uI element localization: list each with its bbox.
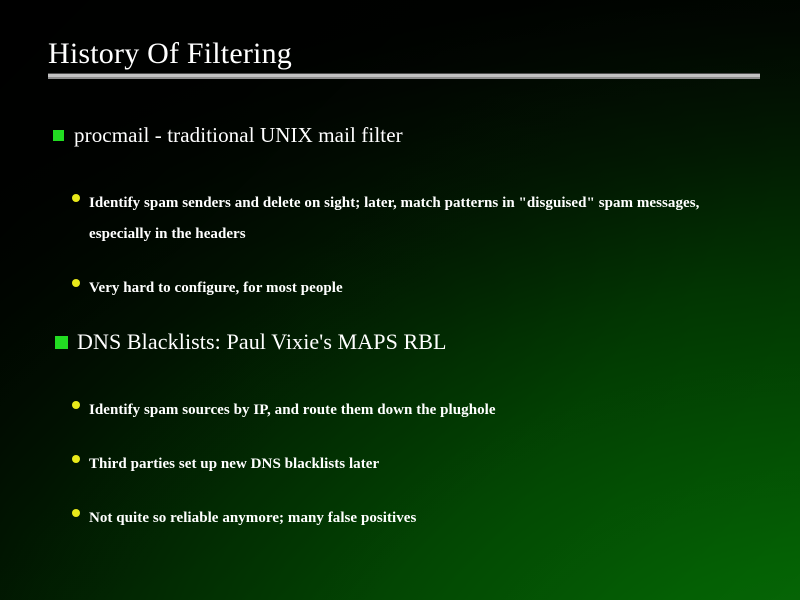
divider-shadow [48, 77, 760, 79]
list-item: Third parties set up new DNS blacklists … [72, 449, 762, 480]
circle-bullet-icon [72, 509, 80, 517]
presentation-slide: History Of Filtering procmail - traditio… [0, 0, 800, 600]
circle-bullet-icon [72, 194, 80, 202]
list-item: Identify spam sources by IP, and route t… [72, 395, 762, 426]
list-item: DNS Blacklists: Paul Vixie's MAPS RBL [55, 328, 755, 356]
page-title: History Of Filtering [48, 36, 760, 72]
list-item: Identify spam senders and delete on sigh… [72, 188, 762, 250]
list-item: Very hard to configure, for most people [72, 273, 762, 304]
square-bullet-icon [55, 336, 68, 349]
circle-bullet-icon [72, 279, 80, 287]
list-item-label: Very hard to configure, for most people [89, 273, 343, 304]
list-item-label: Identify spam senders and delete on sigh… [89, 188, 739, 250]
title-divider-rule [48, 73, 760, 79]
list-item-label: DNS Blacklists: Paul Vixie's MAPS RBL [77, 328, 447, 356]
circle-bullet-icon [72, 455, 80, 463]
slide-title-block: History Of Filtering [48, 36, 760, 72]
list-item-label: Not quite so reliable anymore; many fals… [89, 503, 416, 534]
circle-bullet-icon [72, 401, 80, 409]
list-item-label: Third parties set up new DNS blacklists … [89, 449, 379, 480]
list-item: Not quite so reliable anymore; many fals… [72, 503, 762, 534]
list-item-label: procmail - traditional UNIX mail filter [74, 122, 403, 149]
list-item: procmail - traditional UNIX mail filter [53, 122, 753, 149]
square-bullet-icon [53, 130, 64, 141]
list-item-label: Identify spam sources by IP, and route t… [89, 395, 496, 426]
